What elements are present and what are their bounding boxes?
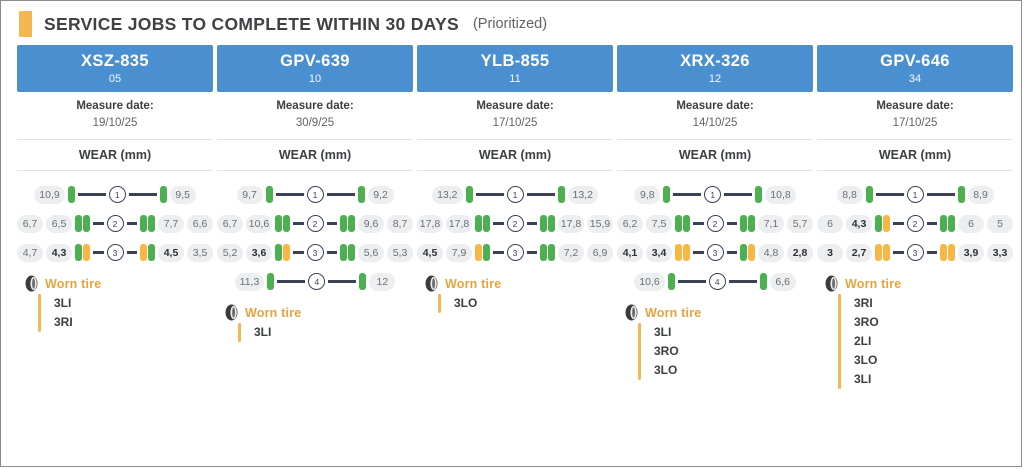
worn-tire-label: Worn tire [445,277,501,291]
left-tire-group [266,186,273,203]
tire-worn-icon [675,244,682,261]
vehicle-plate: XSZ-835 [17,52,213,71]
tire-icon [25,275,38,292]
wear-value: 9,5 [170,186,196,204]
axle-number-badge: 2 [507,215,524,232]
tire-ok-icon [359,273,366,290]
right-tire-group [358,186,365,203]
wear-value: 3,4 [646,244,672,262]
worn-tire-label: Worn tire [645,306,701,320]
service-jobs-panel: SERVICE JOBS TO COMPLETE WITHIN 30 DAYS … [0,0,1022,467]
worn-tire-position: 3LO [854,351,879,370]
right-tire-group [160,186,167,203]
worn-tire-label: Worn tire [845,277,901,291]
right-tire-group [340,215,355,232]
tire-ok-icon [75,244,82,261]
left-tire-group [475,215,490,232]
tire-ok-icon [266,186,273,203]
axle-row[interactable]: 9,719,2 [217,180,413,209]
vehicle-columns: XSZ-83505Measure date:19/10/25WEAR (mm)1… [1,45,1021,389]
axle-list: 8,818,964,326532,733,93,3 [817,171,1013,267]
axle-number-badge: 1 [907,186,924,203]
worn-tire-block: Worn tire3LI3RO3LO [617,296,813,380]
axle-line [327,222,338,225]
tire-ok-icon [348,244,355,261]
tire-ok-icon [475,215,482,232]
axle-row[interactable]: 64,3265 [817,209,1013,238]
worn-tire-position: 3RO [654,342,679,361]
axle-number-badge: 4 [709,273,726,290]
wear-value: 10,6 [634,273,664,291]
axle-row[interactable]: 4,13,434,82,8 [617,238,813,267]
tire-ok-icon [748,215,755,232]
wear-header: WEAR (mm) [17,140,213,171]
tire-worn-icon [140,244,147,261]
right-tire-group [340,244,355,261]
vehicle-number: 10 [217,71,413,88]
vehicle-plate: GPV-646 [817,52,1013,71]
tire-ok-icon [148,244,155,261]
wear-header: WEAR (mm) [417,140,613,171]
wear-value: 5,3 [387,244,413,262]
vehicle-number: 12 [617,71,813,88]
axle-row[interactable]: 17,817,8217,815,9 [417,209,613,238]
axle-line [673,193,701,196]
vehicle-number: 05 [17,71,213,88]
measure-date-value: 17/10/25 [417,115,613,132]
wear-value: 2,7 [846,244,872,262]
tire-worn-icon [940,244,947,261]
left-tire-group [275,215,290,232]
accent-bar-icon [19,11,32,37]
worn-tire-header: Worn tire [217,304,413,321]
wear-value: 5 [987,215,1013,233]
tire-ok-icon [348,215,355,232]
right-tire-group [940,244,955,261]
measure-date-value: 14/10/25 [617,115,813,132]
axle-list: 13,2113,217,817,8217,815,94,57,937,26,9 [417,171,613,267]
axle-line [527,222,538,225]
left-tire-group [675,244,690,261]
wear-value: 17,8 [558,215,584,233]
axle-line [727,222,738,225]
wear-value: 3 [817,244,843,262]
tire-ok-icon [140,215,147,232]
worn-tire-header: Worn tire [817,275,1013,292]
vehicle-plate: GPV-639 [217,52,413,71]
tire-ok-icon [483,244,490,261]
wear-value: 9,2 [368,186,394,204]
measure-date-block: Measure date:17/10/25 [817,92,1013,140]
axle-number-badge: 1 [704,186,721,203]
tire-ok-icon [683,215,690,232]
right-tire-group [760,273,767,290]
axle-number-badge: 3 [307,244,324,261]
tire-worn-icon [883,244,890,261]
worn-tire-block: Worn tire3LI [217,296,413,342]
wear-label: WEAR [279,148,317,162]
tire-icon [425,275,438,292]
axle-line [327,193,355,196]
measure-date-label: Measure date: [817,98,1013,115]
wear-label: WEAR [879,148,917,162]
wear-value: 3,9 [958,244,984,262]
vehicle-number: 34 [817,71,1013,88]
page-title: SERVICE JOBS TO COMPLETE WITHIN 30 DAYS [44,14,459,35]
wear-value: 7,2 [558,244,584,262]
wear-header: WEAR (mm) [217,140,413,171]
tire-ok-icon [948,215,955,232]
wear-value: 5,7 [787,215,813,233]
worn-tire-position: 3LI [54,294,73,313]
right-tire-group [958,186,965,203]
tire-ok-icon [83,215,90,232]
wear-label: WEAR [479,148,517,162]
worn-tire-position: 3RO [854,313,879,332]
tire-ok-icon [663,186,670,203]
axle-line [493,222,504,225]
vehicle-header[interactable]: XSZ-83505 [17,45,213,92]
tire-ok-icon [283,215,290,232]
worn-tire-items: 3LO [441,294,477,313]
tire-ok-icon [275,215,282,232]
tire-ok-icon [548,215,555,232]
left-tire-group [475,244,490,261]
panel-header: SERVICE JOBS TO COMPLETE WITHIN 30 DAYS … [1,1,1021,45]
tire-ok-icon [540,244,547,261]
vehicle-plate: YLB-855 [417,52,613,71]
wear-value: 13,2 [568,186,598,204]
wear-value: 4,5 [417,244,443,262]
axle-list: 9,719,26,710,629,68,75,23,635,65,311,341… [217,171,413,296]
wear-header: WEAR (mm) [817,140,1013,171]
vehicle-column[interactable]: YLB-85511Measure date:17/10/25WEAR (mm)1… [417,45,613,389]
vehicle-header[interactable]: YLB-85511 [417,45,613,92]
tire-ok-icon [668,273,675,290]
worn-tire-label: Worn tire [45,277,101,291]
wear-value: 4,5 [158,244,184,262]
axle-number-badge: 4 [308,273,325,290]
wear-value: 15,9 [587,215,613,233]
tire-ok-icon [160,186,167,203]
wear-value: 6,7 [17,215,43,233]
right-tire-group [940,215,955,232]
axle-line [93,222,104,225]
tire-ok-icon [340,215,347,232]
axle-number-badge: 2 [307,215,324,232]
wear-value: 4,7 [17,244,43,262]
wear-value: 9,6 [358,215,384,233]
worn-tire-position: 3LO [654,361,679,380]
worn-tire-header: Worn tire [617,304,813,321]
axle-line [724,193,752,196]
worn-tire-header: Worn tire [17,275,213,292]
worn-tire-position: 2LI [854,332,879,351]
wear-value: 8,7 [387,215,413,233]
axle-line [476,193,504,196]
axle-number-badge: 2 [907,215,924,232]
axle-row[interactable]: 5,23,635,65,3 [217,238,413,267]
worn-tire-list: 3LI3RI [17,294,213,332]
tire-ok-icon [68,186,75,203]
worn-tire-position: 3LI [854,370,879,389]
wear-value: 2,8 [787,244,813,262]
tire-ok-icon [558,186,565,203]
wear-unit: (mm) [317,148,351,162]
axle-number-badge: 3 [107,244,124,261]
right-tire-group [140,244,155,261]
axle-line [327,251,338,254]
tire-worn-icon [748,244,755,261]
wear-value: 6,6 [187,215,213,233]
tire-ok-icon [740,215,747,232]
left-tire-group [866,186,873,203]
measure-date-label: Measure date: [617,98,813,115]
axle-row[interactable]: 10,646,6 [617,267,813,296]
worn-tire-items: 3LI [241,323,271,342]
wear-value: 9,7 [237,186,263,204]
axle-line [927,251,938,254]
axle-line [276,193,304,196]
wear-value: 4,8 [758,244,784,262]
tire-icon [625,304,638,321]
right-tire-group [740,244,755,261]
axle-row[interactable]: 11,3412 [217,267,413,296]
axle-row[interactable]: 10,919,5 [17,180,213,209]
axle-line [493,251,504,254]
axle-line [527,193,555,196]
tire-ok-icon [75,215,82,232]
vehicle-header[interactable]: XRX-32612 [617,45,813,92]
wear-value: 13,2 [432,186,462,204]
axle-line [127,222,138,225]
wear-value: 9,8 [634,186,660,204]
tire-worn-icon [883,215,890,232]
tire-ok-icon [866,186,873,203]
vehicle-column[interactable]: XSZ-83505Measure date:19/10/25WEAR (mm)1… [17,45,213,389]
wear-value: 5,6 [358,244,384,262]
axle-number-badge: 1 [307,186,324,203]
left-tire-group [275,244,290,261]
left-tire-group [466,186,473,203]
axle-line [729,280,757,283]
wear-unit: (mm) [917,148,951,162]
right-tire-group [540,215,555,232]
axle-row[interactable]: 6,76,527,76,6 [17,209,213,238]
worn-tire-position: 3LI [254,323,271,342]
worn-tire-items: 3RI3RO2LI3LO3LI [841,294,879,389]
wear-value: 6 [817,215,843,233]
wear-unit: (mm) [517,148,551,162]
worn-tire-position: 3LO [454,294,477,313]
right-tire-group [558,186,565,203]
axle-line [927,193,955,196]
tire-ok-icon [755,186,762,203]
tire-ok-icon [148,215,155,232]
tire-worn-icon [683,244,690,261]
tire-ok-icon [483,215,490,232]
page-subtitle: (Prioritized) [473,16,547,32]
wear-value: 7,9 [446,244,472,262]
vehicle-column[interactable]: GPV-64634Measure date:17/10/25WEAR (mm)8… [817,45,1013,389]
tire-ok-icon [675,215,682,232]
right-tire-group [540,244,555,261]
tire-ok-icon [548,244,555,261]
axle-number-badge: 2 [107,215,124,232]
worn-tire-block: Worn tire3RI3RO2LI3LO3LI [817,267,1013,389]
worn-tire-block: Worn tire3LO [417,267,613,313]
tire-ok-icon [958,186,965,203]
wear-unit: (mm) [717,148,751,162]
axle-number-badge: 1 [109,186,126,203]
axle-line [93,251,104,254]
axle-row[interactable]: 4,74,334,53,5 [17,238,213,267]
wear-value: 7,1 [758,215,784,233]
wear-value: 12 [369,273,395,291]
tire-ok-icon [340,244,347,261]
wear-value: 4,3 [46,244,72,262]
vehicle-column[interactable]: XRX-32612Measure date:14/10/25WEAR (mm)9… [617,45,813,389]
measure-date-value: 17/10/25 [817,115,1013,132]
right-tire-group [740,215,755,232]
wear-value: 5,2 [217,244,243,262]
wear-value: 17,8 [446,215,472,233]
wear-value: 3,6 [246,244,272,262]
axle-line [693,222,704,225]
wear-value: 4,1 [617,244,643,262]
worn-tire-items: 3LI3RO3LO [641,323,679,380]
axle-line [693,251,704,254]
measure-date-label: Measure date: [217,98,413,115]
tire-icon [225,304,238,321]
wear-value: 7,7 [158,215,184,233]
axle-line [893,251,904,254]
vehicle-header[interactable]: GPV-64634 [817,45,1013,92]
left-tire-group [663,186,670,203]
worn-tire-position: 3RI [854,294,879,313]
wear-value: 8,9 [968,186,994,204]
tire-worn-icon [948,244,955,261]
measure-date-label: Measure date: [417,98,613,115]
axle-row[interactable]: 6,27,527,15,7 [617,209,813,238]
worn-tire-header: Worn tire [417,275,613,292]
axle-line [293,222,304,225]
wear-value: 10,6 [246,215,272,233]
wear-value: 3,3 [987,244,1013,262]
worn-tire-label: Worn tire [245,306,301,320]
left-tire-group [267,273,274,290]
wear-value: 8,8 [837,186,863,204]
axle-list: 10,919,56,76,527,76,64,74,334,53,5 [17,171,213,267]
measure-date-block: Measure date:17/10/25 [417,92,613,140]
axle-line [876,193,904,196]
wear-value: 10,9 [34,186,64,204]
wear-value: 6,7 [217,215,243,233]
axle-row[interactable]: 4,57,937,26,9 [417,238,613,267]
worn-tire-list: 3LI3RO3LO [617,323,813,380]
axle-row[interactable]: 13,2113,2 [417,180,613,209]
wear-label: WEAR [679,148,717,162]
axle-number-badge: 3 [907,244,924,261]
tire-ok-icon [466,186,473,203]
vehicle-plate: XRX-326 [617,52,813,71]
axle-line [129,193,157,196]
wear-label: WEAR [79,148,117,162]
left-tire-group [68,186,75,203]
left-tire-group [875,215,890,232]
measure-date-block: Measure date:30/9/25 [217,92,413,140]
worn-tire-list: 3RI3RO2LI3LO3LI [817,294,1013,389]
axle-line [927,222,938,225]
wear-value: 17,8 [417,215,443,233]
axle-number-badge: 1 [507,186,524,203]
tire-worn-icon [875,244,882,261]
axle-row[interactable]: 8,818,9 [817,180,1013,209]
left-tire-group [668,273,675,290]
worn-tire-position: 3RI [54,313,73,332]
worn-tire-list: 3LI [217,323,413,342]
vehicle-header[interactable]: GPV-63910 [217,45,413,92]
axle-number-badge: 3 [507,244,524,261]
axle-line [678,280,706,283]
measure-date-value: 30/9/25 [217,115,413,132]
left-tire-group [75,244,90,261]
tire-icon [825,275,838,292]
right-tire-group [755,186,762,203]
measure-date-block: Measure date:19/10/25 [17,92,213,140]
wear-value: 4,3 [846,215,872,233]
tire-ok-icon [940,215,947,232]
measure-date-label: Measure date: [17,98,213,115]
axle-row[interactable]: 32,733,93,3 [817,238,1013,267]
left-tire-group [875,244,890,261]
axle-list: 9,8110,86,27,527,15,74,13,434,82,810,646… [617,171,813,296]
wear-value: 10,8 [765,186,795,204]
axle-line [293,251,304,254]
wear-value: 6 [958,215,984,233]
right-tire-group [359,273,366,290]
measure-date-value: 19/10/25 [17,115,213,132]
worn-tire-position: 3LI [654,323,679,342]
vehicle-number: 11 [417,71,613,88]
tire-ok-icon [740,244,747,261]
axle-row[interactable]: 6,710,629,68,7 [217,209,413,238]
tire-ok-icon [275,244,282,261]
tire-ok-icon [540,215,547,232]
wear-value: 6,9 [587,244,613,262]
tire-worn-icon [475,244,482,261]
axle-line [277,280,305,283]
wear-value: 11,3 [235,273,265,291]
wear-header: WEAR (mm) [617,140,813,171]
axle-row[interactable]: 9,8110,8 [617,180,813,209]
wear-value: 6,5 [46,215,72,233]
axle-number-badge: 2 [707,215,724,232]
left-tire-group [675,215,690,232]
wear-value: 3,5 [187,244,213,262]
axle-line [527,251,538,254]
axle-number-badge: 3 [707,244,724,261]
wear-value: 7,5 [646,215,672,233]
tire-ok-icon [358,186,365,203]
right-tire-group [140,215,155,232]
tire-ok-icon [875,215,882,232]
wear-value: 6,6 [770,273,796,291]
measure-date-block: Measure date:14/10/25 [617,92,813,140]
vehicle-column[interactable]: GPV-63910Measure date:30/9/25WEAR (mm)9,… [217,45,413,389]
axle-line [893,222,904,225]
axle-line [78,193,106,196]
